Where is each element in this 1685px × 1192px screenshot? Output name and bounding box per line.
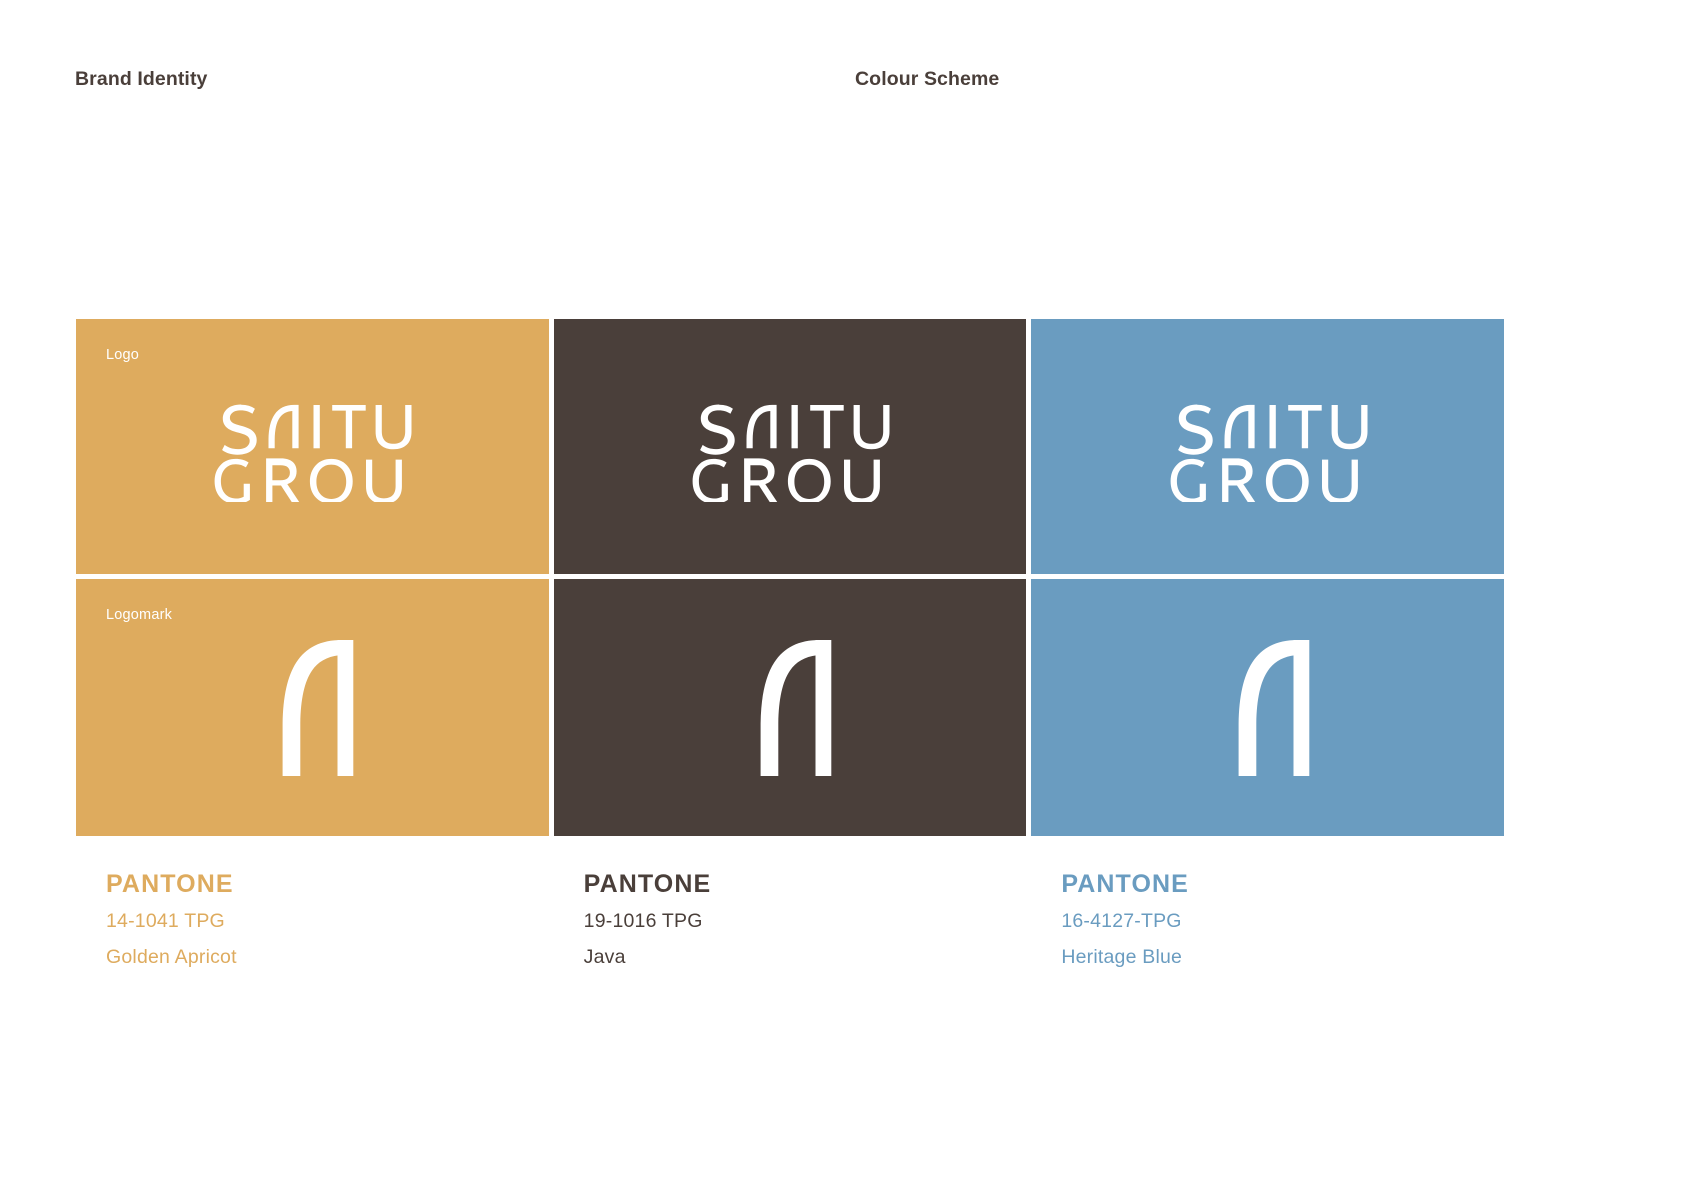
situ-logomark bbox=[269, 638, 355, 778]
situ-group-logo bbox=[690, 392, 890, 502]
situ-group-logo bbox=[1168, 392, 1368, 502]
pantone-colour-name: Heritage Blue bbox=[1061, 948, 1504, 968]
pantone-spec-golden-apricot: PANTONE 14-1041 TPG Golden Apricot bbox=[76, 872, 549, 967]
pantone-spec-heritage-blue: PANTONE 16-4127-TPG Heritage Blue bbox=[1031, 872, 1504, 967]
pantone-wordmark: PANTONE bbox=[106, 872, 549, 897]
situ-logomark bbox=[747, 638, 833, 778]
logomark-swatch-heritage-blue[interactable] bbox=[1031, 579, 1504, 836]
pantone-colour-name: Java bbox=[584, 948, 1027, 968]
logo-lockup bbox=[554, 392, 1027, 502]
pantone-colour-name: Golden Apricot bbox=[106, 948, 549, 968]
cell-label-logo: Logo bbox=[106, 347, 139, 363]
page-header: Brand Identity Colour Scheme bbox=[0, 68, 1685, 98]
logo-swatch-heritage-blue[interactable] bbox=[1031, 319, 1504, 574]
pantone-wordmark: PANTONE bbox=[584, 872, 1027, 897]
situ-logomark bbox=[1225, 638, 1311, 778]
brand-identity-page: Brand Identity Colour Scheme Logo bbox=[0, 0, 1685, 1192]
logo-swatch-java[interactable] bbox=[554, 319, 1027, 574]
logo-swatch-golden-apricot[interactable]: Logo bbox=[76, 319, 549, 574]
pantone-spec-list: PANTONE 14-1041 TPG Golden Apricot PANTO… bbox=[76, 872, 1504, 967]
logo-lockup bbox=[76, 392, 549, 502]
pantone-wordmark: PANTONE bbox=[1061, 872, 1504, 897]
logomark-wrap bbox=[1031, 638, 1504, 778]
pantone-code: 16-4127-TPG bbox=[1061, 912, 1504, 932]
pantone-code: 14-1041 TPG bbox=[106, 912, 549, 932]
logomark-swatch-golden-apricot[interactable]: Logomark bbox=[76, 579, 549, 836]
logomark-wrap bbox=[554, 638, 1027, 778]
swatch-grid: Logo bbox=[76, 319, 1504, 836]
logo-lockup bbox=[1031, 392, 1504, 502]
logomark-wrap bbox=[76, 638, 549, 778]
logomark-swatch-java[interactable] bbox=[554, 579, 1027, 836]
cell-label-logomark: Logomark bbox=[106, 607, 172, 623]
colour-scheme-heading: Colour Scheme bbox=[855, 68, 999, 91]
situ-group-logo bbox=[212, 392, 412, 502]
brand-identity-heading: Brand Identity bbox=[75, 68, 208, 91]
pantone-spec-java: PANTONE 19-1016 TPG Java bbox=[554, 872, 1027, 967]
pantone-code: 19-1016 TPG bbox=[584, 912, 1027, 932]
